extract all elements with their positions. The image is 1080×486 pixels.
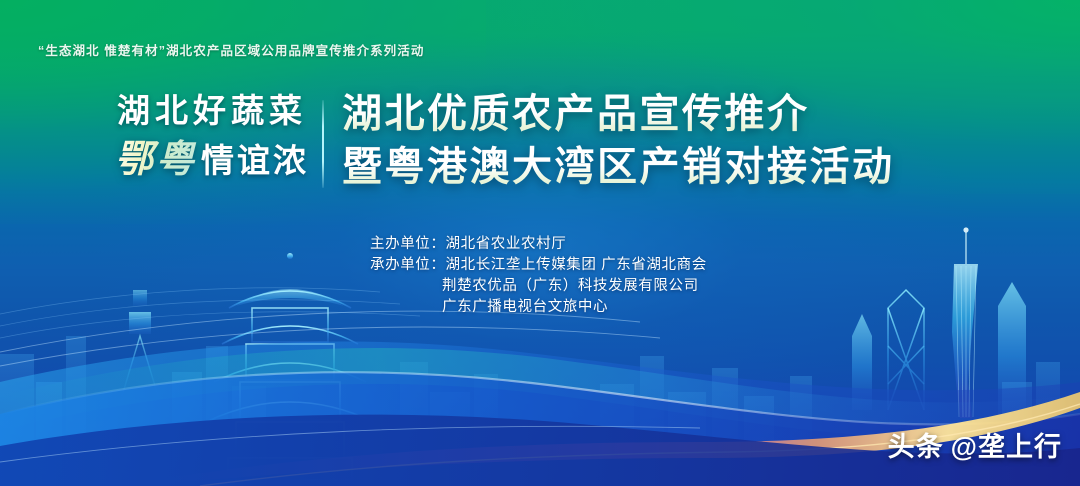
strapline: “生态湖北 惟楚有材”湖北农产品区域公用品牌宣传推介系列活动 xyxy=(38,40,424,59)
organizer-block: 主办单位：湖北省农业农村厅 承办单位：湖北长江垄上传媒集团 广东省湖北商会 荆楚… xyxy=(370,234,707,318)
watermark-handle: @垄上行 xyxy=(951,425,1062,464)
organizer-line: 荆楚农优品（广东）科技发展有限公司 xyxy=(370,276,707,297)
main-title-line2: 暨粤港澳大湾区产销对接活动 xyxy=(342,141,895,194)
organizer-line: 承办单位：湖北长江垄上传媒集团 广东省湖北商会 xyxy=(370,255,707,276)
title-block: 湖北好蔬菜 鄂粤情谊浓 湖北优质农产品宣传推介 暨粤港澳大湾区产销对接活动 xyxy=(0,92,1080,202)
watermark-brand: 头条 xyxy=(888,425,944,464)
poster-canvas: “生态湖北 惟楚有材”湖北农产品区域公用品牌宣传推介系列活动 湖北好蔬菜 鄂粤情… xyxy=(0,0,1080,486)
organizer-line: 广东广播电视台文旅中心 xyxy=(370,297,707,318)
left-title-highlight: 鄂粤 xyxy=(115,139,201,181)
left-title-rest: 情谊浓 xyxy=(201,144,309,180)
main-title: 湖北优质农产品宣传推介 暨粤港澳大湾区产销对接活动 xyxy=(342,88,895,194)
organizer-line: 主办单位：湖北省农业农村厅 xyxy=(370,234,707,255)
left-title-line1: 湖北好蔬菜 xyxy=(112,92,312,133)
title-divider xyxy=(322,100,324,188)
left-title: 湖北好蔬菜 鄂粤情谊浓 xyxy=(112,92,312,187)
watermark: 头条 @垄上行 xyxy=(888,425,1062,464)
main-title-line1: 湖北优质农产品宣传推介 xyxy=(342,88,895,141)
left-title-line2: 鄂粤情谊浓 xyxy=(112,135,312,186)
